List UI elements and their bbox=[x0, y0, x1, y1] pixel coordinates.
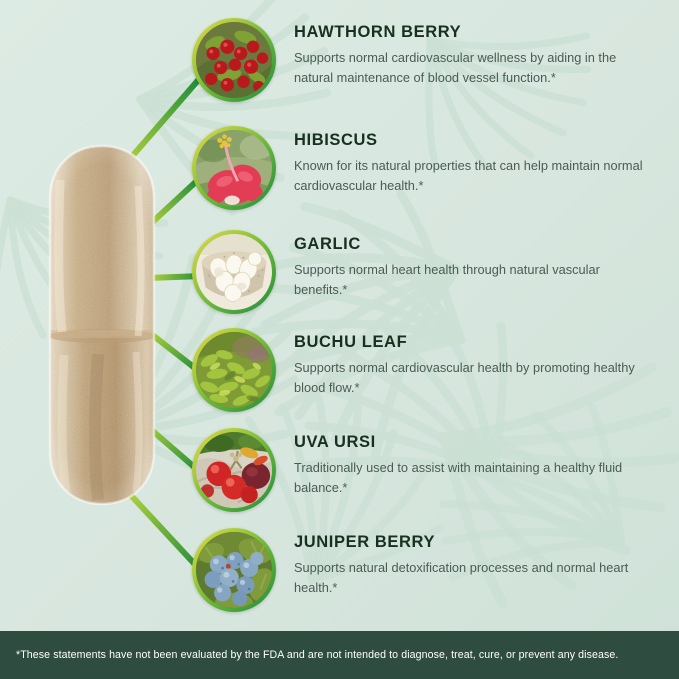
ingredient-row-buchu-leaf: BUCHU LEAF Supports normal cardiovascula… bbox=[192, 328, 646, 412]
disclaimer-footer: *These statements have not been evaluate… bbox=[0, 631, 679, 679]
ingredient-title: JUNIPER BERRY bbox=[294, 534, 646, 551]
ingredient-row-juniper-berry: JUNIPER BERRY Supports natural detoxific… bbox=[192, 528, 646, 612]
ingredient-description: Supports normal cardiovascular wellness … bbox=[294, 48, 646, 89]
ingredient-text-juniper-berry: JUNIPER BERRY Supports natural detoxific… bbox=[294, 528, 646, 599]
juniper-berry-photo bbox=[196, 532, 272, 608]
ingredient-description: Supports normal cardiovascular health by… bbox=[294, 358, 646, 399]
ingredient-row-hawthorn-berry: HAWTHORN BERRY Supports normal cardiovas… bbox=[192, 18, 646, 102]
disclaimer-text: *These statements have not been evaluate… bbox=[0, 649, 618, 661]
ingredient-circle-hawthorn-berry[interactable] bbox=[192, 18, 276, 102]
ingredient-circle-hibiscus[interactable] bbox=[192, 126, 276, 210]
ingredient-text-hawthorn-berry: HAWTHORN BERRY Supports normal cardiovas… bbox=[294, 18, 646, 89]
ingredient-text-garlic: GARLIC Supports normal heart health thro… bbox=[294, 230, 646, 301]
garlic-cloves-photo bbox=[196, 234, 272, 310]
ingredient-description: Known for its natural properties that ca… bbox=[294, 156, 646, 197]
ingredient-circle-juniper-berry[interactable] bbox=[192, 528, 276, 612]
ingredient-circle-garlic[interactable] bbox=[192, 230, 276, 314]
ingredient-title: HIBISCUS bbox=[294, 132, 646, 149]
ingredient-infographic: HAWTHORN BERRY Supports normal cardiovas… bbox=[0, 0, 679, 679]
ingredient-text-hibiscus: HIBISCUS Known for its natural propertie… bbox=[294, 126, 646, 197]
ingredient-title: BUCHU LEAF bbox=[294, 334, 646, 351]
ingredient-row-hibiscus: HIBISCUS Known for its natural propertie… bbox=[192, 126, 646, 210]
supplement-capsule bbox=[32, 140, 172, 510]
ingredient-title: GARLIC bbox=[294, 236, 646, 253]
ingredient-description: Supports normal heart health through nat… bbox=[294, 260, 646, 301]
ingredient-circle-buchu-leaf[interactable] bbox=[192, 328, 276, 412]
ingredient-row-uva-ursi: UVA URSI Traditionally used to assist wi… bbox=[192, 428, 646, 512]
hibiscus-flower-photo bbox=[196, 130, 272, 206]
ingredient-text-uva-ursi: UVA URSI Traditionally used to assist wi… bbox=[294, 428, 646, 499]
ingredient-description: Traditionally used to assist with mainta… bbox=[294, 458, 646, 499]
ingredient-title: UVA URSI bbox=[294, 434, 646, 451]
ingredient-description: Supports natural detoxification processe… bbox=[294, 558, 646, 599]
ingredient-title: HAWTHORN BERRY bbox=[294, 24, 646, 41]
ingredient-row-garlic: GARLIC Supports normal heart health thro… bbox=[192, 230, 646, 314]
buchu-leaf-photo bbox=[196, 332, 272, 408]
hawthorn-berry-photo bbox=[196, 22, 272, 98]
uva-ursi-berries-photo bbox=[196, 432, 272, 508]
ingredient-text-buchu-leaf: BUCHU LEAF Supports normal cardiovascula… bbox=[294, 328, 646, 399]
ingredient-circle-uva-ursi[interactable] bbox=[192, 428, 276, 512]
